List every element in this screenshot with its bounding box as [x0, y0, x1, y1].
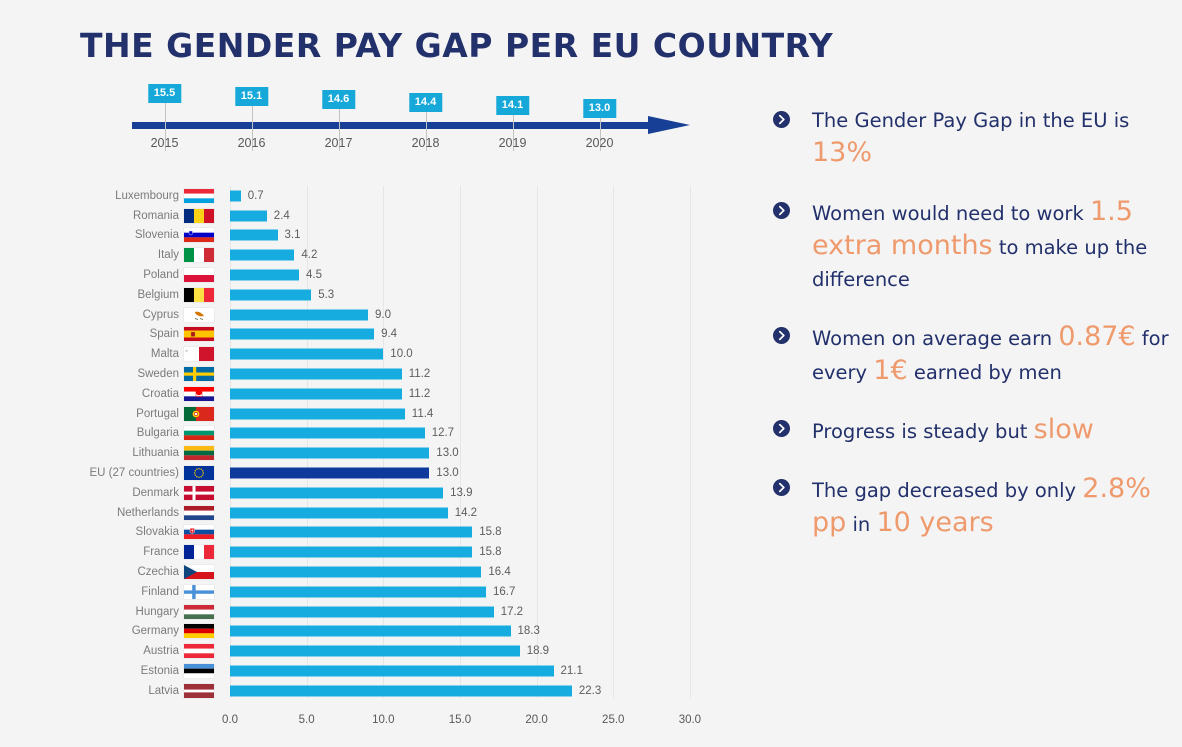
country-label: Lithuania — [132, 447, 179, 459]
flag-icon-portugal — [184, 407, 214, 421]
flag-icon-estonia — [184, 664, 214, 678]
chart-row[interactable]: Austria18.9 — [0, 641, 740, 661]
country-label: Romania — [133, 210, 179, 222]
bar[interactable] — [230, 210, 267, 221]
chart-row[interactable]: Italy4.2 — [0, 245, 740, 265]
flag-icon-croatia — [184, 387, 214, 401]
country-label: EU (27 countries) — [90, 467, 179, 479]
chart-row[interactable]: Netherlands14.2 — [0, 503, 740, 523]
x-tick-label: 0.0 — [222, 714, 238, 726]
flag-icon-france — [184, 545, 214, 559]
bar[interactable] — [230, 329, 374, 340]
bar-value-label: 13.0 — [436, 447, 458, 459]
bar[interactable] — [230, 250, 294, 261]
timeline-value-badge: 15.1 — [235, 87, 268, 106]
country-label: Slovakia — [136, 526, 179, 538]
timeline-year-label: 2019 — [499, 136, 527, 150]
bar[interactable] — [230, 487, 443, 498]
chevron-circle-icon — [773, 111, 790, 128]
bar[interactable] — [230, 646, 520, 657]
chart-row[interactable]: Spain9.4 — [0, 325, 740, 345]
chart-row[interactable]: Estonia21.1 — [0, 661, 740, 681]
bar-value-label: 16.7 — [493, 586, 515, 598]
chart-row[interactable]: Bulgaria12.7 — [0, 424, 740, 444]
bar[interactable] — [230, 428, 425, 439]
flag-icon-czechia — [184, 565, 214, 579]
flag-icon-cyprus — [184, 308, 214, 322]
bar-value-label: 21.1 — [561, 665, 583, 677]
flag-icon-belgium — [184, 288, 214, 302]
chevron-circle-icon — [773, 479, 790, 496]
x-tick-label: 10.0 — [372, 714, 394, 726]
flag-icon-eu — [184, 466, 214, 480]
timeline-year-label: 2020 — [586, 136, 614, 150]
fact-plain: The Gender Pay Gap in the EU is — [812, 109, 1129, 132]
bar-value-label: 3.1 — [285, 229, 301, 241]
bar[interactable] — [230, 408, 405, 419]
country-label: Poland — [143, 269, 179, 281]
bar-value-label: 13.9 — [450, 487, 472, 499]
bar-value-label: 15.8 — [479, 526, 501, 538]
chart-row[interactable]: Luxembourg0.7 — [0, 186, 740, 206]
country-label: Finland — [141, 586, 179, 598]
fact-item: The Gender Pay Gap in the EU is 13% — [770, 105, 1170, 171]
timeline-year-label: 2016 — [238, 136, 266, 150]
country-label: Cyprus — [143, 309, 179, 321]
x-tick-label: 25.0 — [602, 714, 624, 726]
timeline-value-badge: 15.5 — [148, 84, 181, 103]
bar-value-label: 18.9 — [527, 645, 549, 657]
country-label: Sweden — [137, 368, 179, 380]
flag-icon-italy — [184, 248, 214, 262]
timeline-axis-line — [132, 122, 652, 129]
bar-chart: Luxembourg0.7Romania2.4Slovenia3.1Italy4… — [0, 186, 740, 726]
bar[interactable] — [230, 448, 429, 459]
chart-row[interactable]: Cyprus9.0 — [0, 305, 740, 325]
bar-value-label: 4.5 — [306, 269, 322, 281]
fact-text: The gap decreased by only 2.8% pp in 10 … — [812, 473, 1170, 541]
fact-highlight: slow — [1034, 414, 1094, 445]
fact-plain: Women would need to work — [812, 202, 1090, 225]
bar-value-label: 0.7 — [248, 190, 264, 202]
flag-icon-germany — [184, 624, 214, 638]
bar-value-label: 9.0 — [375, 309, 391, 321]
country-label: Italy — [158, 249, 179, 261]
fact-text: Women on average earn 0.87€ for every 1€… — [812, 321, 1170, 389]
fact-item: Women would need to work 1.5 extra month… — [770, 196, 1170, 296]
fact-text: The Gender Pay Gap in the EU is 13% — [812, 105, 1170, 171]
fact-item: The gap decreased by only 2.8% pp in 10 … — [770, 473, 1170, 541]
fact-plain: in — [846, 513, 876, 536]
facts-panel: The Gender Pay Gap in the EU is 13%Women… — [770, 105, 1170, 566]
fact-plain: earned by men — [908, 361, 1062, 384]
chevron-circle-icon — [773, 327, 790, 344]
country-label: France — [143, 546, 179, 558]
bar[interactable] — [230, 606, 494, 617]
x-tick-label: 5.0 — [299, 714, 315, 726]
chart-rows: Luxembourg0.7Romania2.4Slovenia3.1Italy4… — [0, 186, 740, 701]
bar-value-label: 13.0 — [436, 467, 458, 479]
bar-value-label: 11.4 — [412, 408, 434, 420]
fact-highlight: 10 years — [876, 507, 993, 538]
page-title: THE GENDER PAY GAP PER EU COUNTRY — [80, 26, 833, 65]
bar-value-label: 17.2 — [501, 606, 523, 618]
bar-value-label: 9.4 — [381, 328, 397, 340]
country-label: Estonia — [141, 665, 179, 677]
country-label: Czechia — [137, 566, 179, 578]
chart-row[interactable]: Finland16.7 — [0, 582, 740, 602]
bar-value-label: 5.3 — [318, 289, 334, 301]
chart-row[interactable]: Sweden11.2 — [0, 364, 740, 384]
flag-icon-austria — [184, 644, 214, 658]
bar[interactable] — [230, 309, 368, 320]
country-label: Luxembourg — [115, 190, 179, 202]
timeline-value-badge: 14.1 — [496, 96, 529, 115]
bar[interactable] — [230, 190, 241, 201]
bar-value-label: 18.3 — [518, 625, 540, 637]
bar[interactable] — [230, 349, 383, 360]
bar-value-label: 11.2 — [409, 388, 431, 400]
x-tick-label: 30.0 — [679, 714, 701, 726]
flag-icon-slovenia — [184, 228, 214, 242]
country-label: Belgium — [137, 289, 179, 301]
country-label: Austria — [143, 645, 179, 657]
country-label: Germany — [132, 625, 179, 637]
x-tick-label: 20.0 — [525, 714, 547, 726]
chart-row[interactable]: France15.8 — [0, 542, 740, 562]
timeline-value-badge: 14.4 — [409, 93, 442, 112]
bar-value-label: 22.3 — [579, 685, 601, 697]
flag-icon-hungary — [184, 605, 214, 619]
bar-value-label: 14.2 — [455, 507, 477, 519]
bar[interactable] — [230, 507, 448, 518]
timeline-arrow-icon — [648, 116, 690, 134]
x-tick-label: 15.0 — [449, 714, 471, 726]
country-label: Denmark — [132, 487, 179, 499]
chart-row[interactable]: Denmark13.9 — [0, 483, 740, 503]
country-label: Slovenia — [135, 229, 179, 241]
flag-icon-latvia — [184, 684, 214, 698]
bar-value-label: 4.2 — [301, 249, 317, 261]
flag-icon-bulgaria — [184, 426, 214, 440]
bar-value-label: 12.7 — [432, 427, 454, 439]
fact-plain: The gap decreased by only — [812, 479, 1082, 502]
timeline-year-label: 2018 — [412, 136, 440, 150]
country-label: Portugal — [136, 408, 179, 420]
fact-plain: Progress is steady but — [812, 420, 1034, 443]
bar[interactable] — [230, 567, 481, 578]
bar-value-label: 11.2 — [409, 368, 431, 380]
fact-highlight: 0.87€ — [1058, 321, 1135, 352]
flag-icon-malta — [184, 347, 214, 361]
timeline-year-label: 2015 — [151, 136, 179, 150]
fact-highlight: 13% — [812, 137, 872, 168]
timeline-value-badge: 14.6 — [322, 90, 355, 109]
chart-row[interactable]: Croatia11.2 — [0, 384, 740, 404]
chart-row[interactable]: Hungary17.2 — [0, 602, 740, 622]
fact-text: Progress is steady but slow — [812, 414, 1170, 448]
country-label: Hungary — [136, 606, 179, 618]
bar[interactable] — [230, 369, 402, 380]
flag-icon-netherlands — [184, 506, 214, 520]
fact-highlight: 1€ — [873, 355, 907, 386]
bar[interactable] — [230, 289, 311, 300]
bar[interactable] — [230, 388, 402, 399]
bar[interactable] — [230, 527, 472, 538]
fact-plain: Women on average earn — [812, 327, 1058, 350]
fact-item: Progress is steady but slow — [770, 414, 1170, 448]
flag-icon-poland — [184, 268, 214, 282]
flag-icon-sweden — [184, 367, 214, 381]
bar[interactable] — [230, 270, 299, 281]
chart-row[interactable]: Portugal11.4 — [0, 404, 740, 424]
bar[interactable] — [230, 685, 572, 696]
bar-value-label: 2.4 — [274, 210, 290, 222]
country-label: Malta — [151, 348, 179, 360]
chart-row[interactable]: Romania2.4 — [0, 206, 740, 226]
fact-text: Women would need to work 1.5 extra month… — [812, 196, 1170, 296]
flag-icon-finland — [184, 585, 214, 599]
infographic-root: THE GENDER PAY GAP PER EU COUNTRY 15.520… — [0, 0, 1182, 747]
bar[interactable] — [230, 230, 278, 241]
flag-icon-spain — [184, 327, 214, 341]
chart-row[interactable]: Belgium5.3 — [0, 285, 740, 305]
bar[interactable] — [230, 626, 511, 637]
bar[interactable] — [230, 547, 472, 558]
flag-icon-lithuania — [184, 446, 214, 460]
chart-row[interactable]: Malta10.0 — [0, 344, 740, 364]
chart-row[interactable]: Slovakia15.8 — [0, 523, 740, 543]
flag-icon-luxembourg — [184, 189, 214, 203]
chart-row[interactable]: Lithuania13.0 — [0, 443, 740, 463]
bar-value-label: 15.8 — [479, 546, 501, 558]
chart-row[interactable]: Latvia22.3 — [0, 681, 740, 701]
flag-icon-romania — [184, 209, 214, 223]
chart-row[interactable]: Czechia16.4 — [0, 562, 740, 582]
country-label: Netherlands — [117, 507, 179, 519]
chart-row[interactable]: Poland4.5 — [0, 265, 740, 285]
chart-row[interactable]: EU (27 countries)13.0 — [0, 463, 740, 483]
country-label: Spain — [150, 328, 179, 340]
bar[interactable] — [230, 586, 486, 597]
bar-value-label: 16.4 — [488, 566, 510, 578]
bar[interactable] — [230, 666, 554, 677]
flag-icon-slovakia — [184, 525, 214, 539]
chart-row[interactable]: Slovenia3.1 — [0, 226, 740, 246]
x-axis: 0.05.010.015.020.025.030.0 — [0, 706, 740, 736]
country-label: Latvia — [148, 685, 179, 697]
fact-item: Women on average earn 0.87€ for every 1€… — [770, 321, 1170, 389]
country-label: Bulgaria — [137, 427, 179, 439]
flag-icon-denmark — [184, 486, 214, 500]
timeline-year-label: 2017 — [325, 136, 353, 150]
bar-value-label: 10.0 — [390, 348, 412, 360]
country-label: Croatia — [142, 388, 179, 400]
chevron-circle-icon — [773, 202, 790, 219]
bar[interactable] — [230, 468, 429, 479]
chart-row[interactable]: Germany18.3 — [0, 622, 740, 642]
timeline-value-badge: 13.0 — [583, 99, 616, 118]
timeline-chart: 15.5201515.1201614.6201714.4201814.12019… — [0, 80, 740, 160]
chevron-circle-icon — [773, 420, 790, 437]
